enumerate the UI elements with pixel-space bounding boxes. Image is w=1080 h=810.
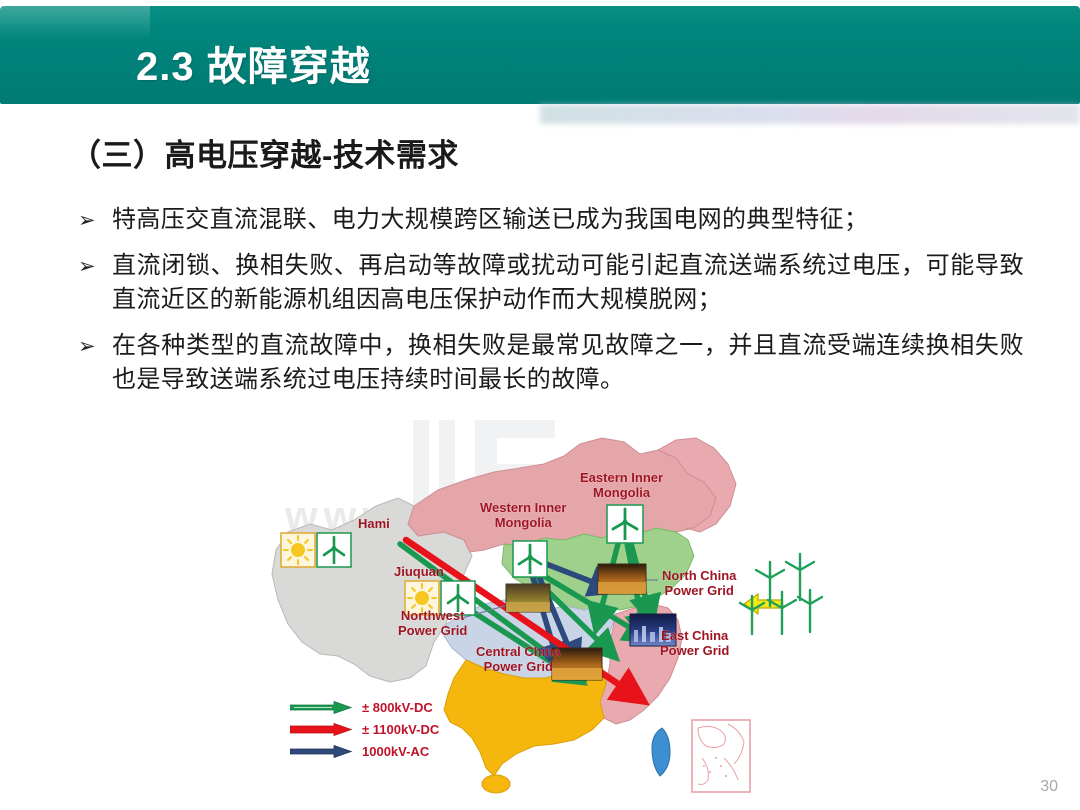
offshore-wind-cluster-icon bbox=[740, 554, 822, 634]
list-item: ➢ 在各种类型的直流故障中，换相失败是最常见故障之一，并且直流受端连续换相失败也… bbox=[78, 329, 1024, 397]
list-item: ➢ 特高压交直流混联、电力大规模跨区输送已成为我国电网的典型特征； bbox=[78, 203, 1024, 237]
map-label-line: Eastern Inner bbox=[580, 470, 663, 485]
map-label-jiuquan: Jiuquan bbox=[394, 564, 444, 579]
map-legend: ± 800kV-DC ± 1100kV-DC 1000kV-AC bbox=[290, 698, 439, 764]
page-title: 2.3 故障穿越 bbox=[136, 34, 371, 92]
page-number: 30 bbox=[1040, 778, 1058, 796]
china-power-grid-map: Hami Jiuquan Western Inner Mongolia East… bbox=[258, 428, 824, 800]
map-label-northwest-power-grid: Northwest Power Grid bbox=[398, 608, 467, 638]
map-label-line: North China bbox=[662, 568, 736, 583]
map-label-line: Power Grid bbox=[660, 643, 729, 658]
hami-station-icons bbox=[280, 532, 352, 568]
map-label-line: Power Grid bbox=[398, 623, 467, 638]
header-banner: 2.3 故障穿越 bbox=[0, 6, 1080, 104]
legend-item: 1000kV-AC bbox=[290, 742, 439, 761]
legend-item: ± 1100kV-DC bbox=[290, 720, 439, 739]
region-taiwan bbox=[652, 728, 670, 776]
arrow-bullet-icon: ➢ bbox=[78, 249, 112, 283]
list-item: ➢ 直流闭锁、换相失败、再启动等故障或扰动可能引起直流送端系统过电压，可能导致直… bbox=[78, 249, 1024, 317]
section-heading: （三）高电压穿越-技术需求 bbox=[70, 130, 459, 175]
list-item-text: 特高压交直流混联、电力大规模跨区输送已成为我国电网的典型特征； bbox=[112, 203, 1024, 237]
legend-label: 1000kV-AC bbox=[362, 744, 429, 759]
map-label-line: Northwest bbox=[398, 608, 467, 623]
map-label-line: Mongolia bbox=[580, 485, 663, 500]
bullet-list: ➢ 特高压交直流混联、电力大规模跨区输送已成为我国电网的典型特征； ➢ 直流闭锁… bbox=[78, 203, 1024, 409]
map-label-line: Central China bbox=[476, 644, 561, 659]
slide: 2.3 故障穿越 （三）高电压穿越-技术需求 ➢ 特高压交直流混联、电力大规模跨… bbox=[0, 0, 1080, 810]
western-inner-mongolia-wind-icon bbox=[512, 540, 548, 578]
arrow-bullet-icon: ➢ bbox=[78, 203, 112, 237]
region-hainan bbox=[482, 775, 510, 793]
blue-arrow-icon bbox=[290, 745, 352, 758]
map-label-line: Mongolia bbox=[480, 515, 566, 530]
map-label-western-inner-mongolia: Western Inner Mongolia bbox=[480, 500, 566, 530]
solar-panel-icon bbox=[281, 533, 315, 567]
legend-label: ± 800kV-DC bbox=[362, 700, 433, 715]
header-underglow-decoration bbox=[540, 104, 1080, 124]
map-label-line: Power Grid bbox=[662, 583, 736, 598]
south-china-sea-inset-map bbox=[692, 720, 750, 792]
map-label-hami: Hami bbox=[358, 516, 390, 531]
map-label-central-china-power-grid: Central China Power Grid bbox=[476, 644, 561, 674]
city-photo-icon bbox=[598, 564, 646, 594]
map-label-line: East China bbox=[660, 628, 729, 643]
wind-turbine-icon bbox=[317, 533, 351, 567]
green-arrow-icon bbox=[290, 701, 352, 714]
list-item-text: 直流闭锁、换相失败、再启动等故障或扰动可能引起直流送端系统过电压，可能导致直流近… bbox=[112, 249, 1024, 317]
list-item-text: 在各种类型的直流故障中，换相失败是最常见故障之一，并且直流受端连续换相失败也是导… bbox=[112, 329, 1024, 397]
legend-item: ± 800kV-DC bbox=[290, 698, 439, 717]
eastern-inner-mongolia-wind-icon bbox=[606, 504, 644, 544]
map-label-line: Western Inner bbox=[480, 500, 566, 515]
map-label-east-china-power-grid: East China Power Grid bbox=[660, 628, 729, 658]
map-label-north-china-power-grid: North China Power Grid bbox=[662, 568, 736, 598]
arrow-bullet-icon: ➢ bbox=[78, 329, 112, 363]
map-label-line: Power Grid bbox=[476, 659, 561, 674]
legend-label: ± 1100kV-DC bbox=[362, 722, 439, 737]
city-photo-icon bbox=[506, 584, 550, 612]
red-arrow-icon bbox=[290, 723, 352, 736]
map-label-eastern-inner-mongolia: Eastern Inner Mongolia bbox=[580, 470, 663, 500]
